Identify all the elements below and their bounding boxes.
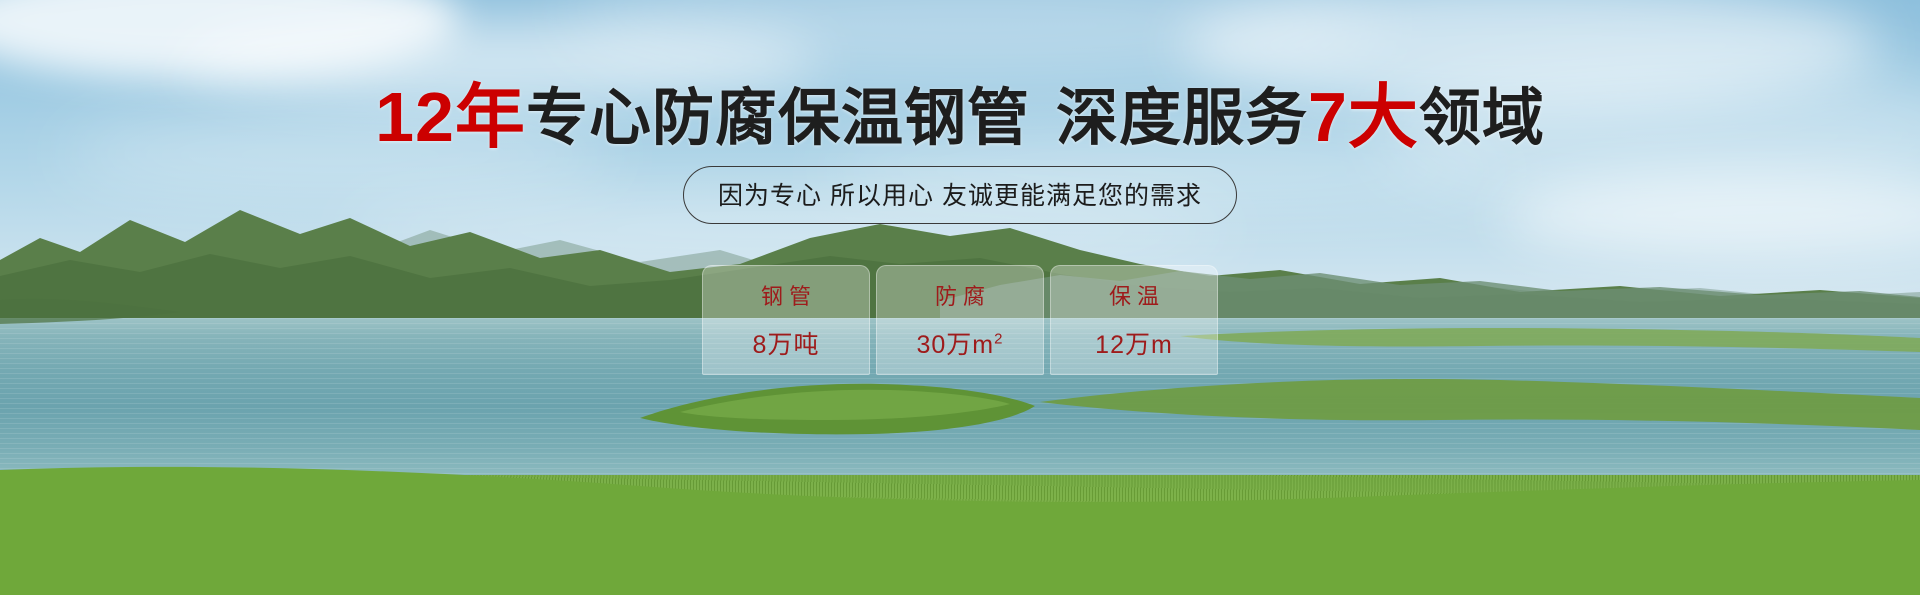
stat-card-steel-pipe[interactable]: 钢管 8万吨: [702, 265, 870, 375]
stat-card-label: 防腐: [929, 279, 991, 311]
headline-part-years: 12年: [375, 78, 526, 156]
stat-card-label: 钢管: [755, 279, 817, 311]
hero-banner: 12年专心防腐保温钢管深度服务7大领域 因为专心 所以用心 友诚更能满足您的需求…: [0, 0, 1920, 595]
stat-value-main: 8万吨: [753, 331, 820, 359]
banner-content: 12年专心防腐保温钢管深度服务7大领域 因为专心 所以用心 友诚更能满足您的需求…: [0, 0, 1920, 595]
stat-card-value: 12万m: [1095, 325, 1173, 361]
stat-card-list: 钢管 8万吨 防腐 30万m2 保温 12万m: [0, 265, 1920, 375]
stat-value-main: 12万m: [1095, 331, 1173, 359]
banner-subtitle: 因为专心 所以用心 友诚更能满足您的需求: [683, 166, 1237, 224]
stat-value-main: 30万m: [917, 331, 995, 359]
banner-subtitle-wrap: 因为专心 所以用心 友诚更能满足您的需求: [0, 166, 1920, 224]
headline-part-service: 深度服务: [1056, 84, 1308, 153]
stat-card-value: 8万吨: [753, 325, 820, 361]
headline-part-fields: 领域: [1419, 84, 1545, 153]
headline-part-seven: 7大: [1308, 78, 1419, 156]
stat-card-insulation[interactable]: 保温 12万m: [1050, 265, 1218, 375]
stat-value-superscript: 2: [994, 331, 1003, 348]
banner-headline: 12年专心防腐保温钢管深度服务7大领域: [0, 82, 1920, 152]
stat-card-label: 保温: [1103, 279, 1165, 311]
stat-card-anticorrosion[interactable]: 防腐 30万m2: [876, 265, 1044, 375]
stat-card-value: 30万m2: [917, 325, 1004, 361]
headline-part-focus: 专心防腐保温钢管: [526, 84, 1030, 153]
